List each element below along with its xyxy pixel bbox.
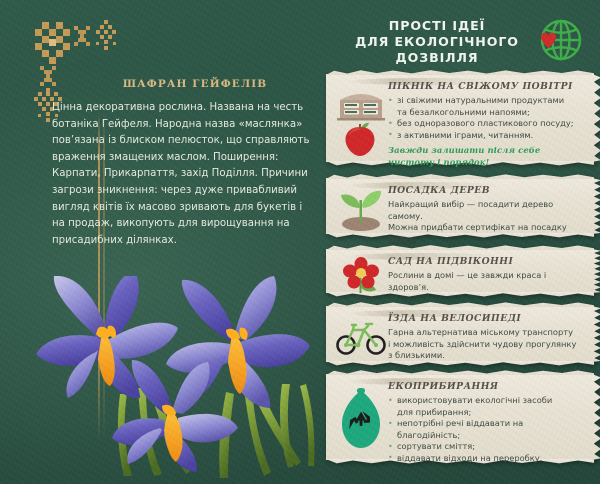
- card-eco-cleaning-title: ЕКОПРИБИРАННЯ: [388, 381, 580, 392]
- card-bicycle-body: ЇЗДА НА ВЕЛОСИПЕДІ Гарна альтернатива мі…: [388, 313, 580, 362]
- card-windowsill-garden-body: САД НА ПІДВІКОННІ Рослини в домі — це за…: [388, 256, 580, 293]
- card-picnic-bullets: зі свіжими натуральними продуктами та бе…: [388, 95, 580, 141]
- card-torn-top-edge: [326, 69, 594, 75]
- list-item: для прибирання;: [388, 407, 580, 419]
- card-picnic-highlight: Завжди залишати після себе чистоту і пор…: [388, 145, 580, 168]
- plant-description-text: Цінна декоративна рослина. Названа на че…: [52, 100, 310, 249]
- card-torn-top-edge: [326, 173, 594, 179]
- paragraph-line: з близькими.: [388, 350, 580, 362]
- recycling-bag-icon: [334, 382, 388, 454]
- list-item: та безалкогольними напоями;: [388, 107, 580, 119]
- card-tree-planting-title: ПОСАДКА ДЕРЕВ: [388, 185, 580, 196]
- card-bicycle-title: ЇЗДА НА ВЕЛОСИПЕДІ: [388, 313, 580, 324]
- list-item: використовувати екологічні засоби: [388, 395, 580, 407]
- card-picnic-title: ПІКНІК НА СВІЖОМУ ПОВІТРІ: [388, 81, 580, 92]
- card-torn-top-edge: [326, 369, 594, 375]
- list-item: непотрібні речі віддавати на благодійніс…: [388, 418, 580, 441]
- red-flower-icon: [334, 257, 388, 297]
- eco-heading-line-2: ДЛЯ ЕКОЛОГІЧНОГО: [342, 34, 532, 50]
- card-windowsill-garden[interactable]: САД НА ПІДВІКОННІ Рослини в домі — це за…: [326, 249, 594, 293]
- card-picnic-body: ПІКНІК НА СВІЖОМУ ПОВІТРІ зі свіжими нат…: [388, 81, 580, 168]
- card-torn-top-edge: [326, 301, 594, 307]
- eco-ideas-heading: ПРОСТІ ІДЕЇ ДЛЯ ЕКОЛОГІЧНОГО ДОЗВІЛЛЯ: [342, 18, 532, 66]
- plant-info-column: ШАФРАН ГЕЙФЕЛІВ Цінна декоративна рослин…: [0, 0, 330, 484]
- card-torn-bottom-edge: [326, 361, 594, 367]
- card-bicycle[interactable]: ЇЗДА НА ВЕЛОСИПЕДІ Гарна альтернатива мі…: [326, 306, 594, 362]
- list-item: з активними іграми, читанням.: [388, 130, 580, 142]
- eco-ideas-column: ПРОСТІ ІДЕЇ ДЛЯ ЕКОЛОГІЧНОГО ДОЗВІЛЛЯ: [330, 0, 600, 484]
- list-item: віддавати відходи на переробку.: [388, 453, 580, 465]
- bicycle-icon: [334, 314, 388, 358]
- poster-page: ШАФРАН ГЕЙФЕЛІВ Цінна декоративна рослин…: [0, 0, 600, 484]
- card-torn-right-edge: [592, 249, 600, 293]
- card-tree-planting[interactable]: ПОСАДКА ДЕРЕВ Найкращий вибір — посадити…: [326, 178, 594, 234]
- card-torn-right-edge: [592, 74, 600, 162]
- card-torn-right-edge: [592, 374, 600, 460]
- card-eco-cleaning[interactable]: ЕКОПРИБИРАННЯ використовувати екологічні…: [326, 374, 594, 460]
- eco-heading-line-3: ДОЗВІЛЛЯ: [342, 50, 532, 66]
- list-item: без одноразового пластикового посуду;: [388, 118, 580, 130]
- plant-title: ШАФРАН ГЕЙФЕЛІВ: [70, 78, 320, 90]
- crocus-flowers-illustration: [20, 276, 320, 484]
- picnic-basket-and-apple-icon: [334, 82, 388, 158]
- globe-with-heart-icon: [528, 16, 588, 68]
- card-tree-planting-body: ПОСАДКА ДЕРЕВ Найкращий вибір — посадити…: [388, 185, 580, 257]
- list-item: зі свіжими натуральними продуктами: [388, 95, 580, 107]
- eco-heading-line-1: ПРОСТІ ІДЕЇ: [342, 18, 532, 34]
- list-item: сортувати сміття;: [388, 441, 580, 453]
- card-eco-cleaning-bullets: використовувати екологічні засоби для пр…: [388, 395, 580, 465]
- sprout-in-soil-icon: [334, 186, 388, 234]
- paragraph-line: Найкращий вибір — посадити дерево самому…: [388, 199, 580, 222]
- card-eco-cleaning-body: ЕКОПРИБИРАННЯ використовувати екологічні…: [388, 381, 580, 465]
- plant-description: Цінна декоративна рослина. Названа на че…: [52, 100, 310, 249]
- paragraph-line: Рослини в домі — це завжди краса і здоро…: [388, 270, 580, 293]
- paragraph-line: і можливість здійснити чудову прогулянку: [388, 339, 580, 351]
- paragraph-line: Гарна альтернатива міському транспорту: [388, 327, 580, 339]
- card-picnic[interactable]: ПІКНІК НА СВІЖОМУ ПОВІТРІ зі свіжими нат…: [326, 74, 594, 162]
- card-torn-right-edge: [592, 178, 600, 234]
- card-windowsill-garden-title: САД НА ПІДВІКОННІ: [388, 256, 580, 267]
- paragraph-line: Можна придбати сертифікат на посадку дер…: [388, 222, 580, 245]
- card-torn-right-edge: [592, 306, 600, 362]
